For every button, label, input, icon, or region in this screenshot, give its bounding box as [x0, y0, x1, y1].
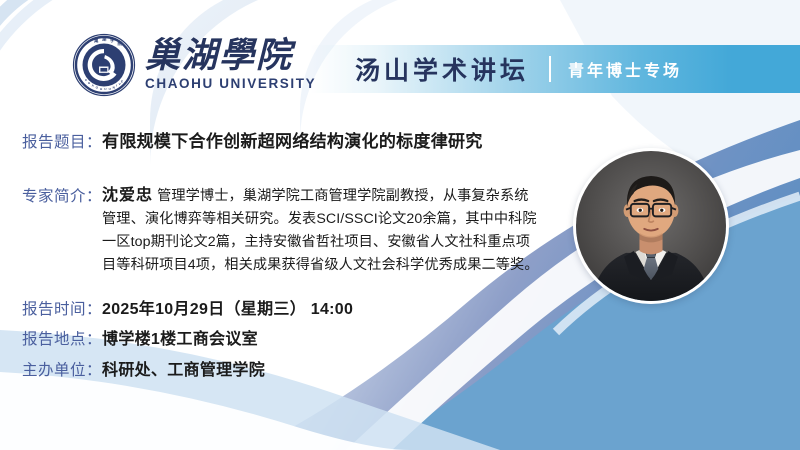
- forum-banner-subtitle: 青年博士专场: [568, 57, 682, 81]
- speaker-portrait: [573, 148, 729, 304]
- svg-text:湖: 湖: [102, 35, 107, 42]
- bio-line-text-1: 管理学博士，巢湖学院工商管理学院副教授，从事复杂系统: [153, 188, 529, 204]
- lecture-poster: 巢湖学院 CHA OHU UNI VE 巢湖學院 CHAOHU UNIVERSI…: [0, 0, 800, 450]
- bio-line: 沈爱忠 管理学博士，巢湖学院工商管理学院副教授，从事复杂系统: [102, 184, 557, 208]
- bio-line: 一区top期刊论文2篇，主持安徽省哲社项目、安徽省人文社科重点项: [102, 231, 557, 254]
- report-time-label: 报告时间：: [22, 297, 102, 319]
- speaker-bio-body: 沈爱忠 管理学博士，巢湖学院工商管理学院副教授，从事复杂系统 管理、演化博弈等相…: [102, 184, 557, 277]
- organizer-label: 主办单位：: [22, 358, 102, 380]
- chaohu-university-seal-icon: 巢湖学院 CHA OHU UNI VE: [72, 33, 136, 97]
- organizer-row: 主办单位： 科研处、工商管理学院: [22, 356, 265, 380]
- report-place-value: 博学楼1楼工商会议室: [102, 325, 258, 349]
- report-title-label: 报告题目：: [22, 130, 102, 152]
- svg-text:I: I: [116, 84, 117, 88]
- svg-text:院: 院: [118, 40, 123, 47]
- svg-text:学: 学: [110, 37, 115, 44]
- university-logo-block: 巢湖学院 CHA OHU UNI VE 巢湖學院 CHAOHU UNIVERSI…: [72, 33, 316, 97]
- speaker-bio-label: 专家简介：: [22, 184, 102, 206]
- banner-divider: [549, 56, 551, 82]
- report-place-row: 报告地点： 博学楼1楼工商会议室: [22, 325, 258, 349]
- report-time-row: 报告时间： 2025年10月29日（星期三） 14:00: [22, 295, 353, 319]
- bio-line: 管理、演化博弈等相关研究。发表SCI/SSCI论文20余篇，其中中科院: [102, 208, 557, 231]
- bio-line: 目等科研项目4项，相关成果获得省级人文社会科学优秀成果二等奖。: [102, 254, 557, 277]
- svg-text:E: E: [121, 79, 123, 83]
- university-name-cn: 巢湖學院: [145, 36, 316, 75]
- svg-text:巢: 巢: [93, 37, 99, 44]
- report-title-value: 有限规模下合作创新超网络结构演化的标度律研究: [102, 127, 483, 152]
- organizer-value: 科研处、工商管理学院: [102, 356, 265, 380]
- poster-header: 巢湖学院 CHA OHU UNI VE 巢湖學院 CHAOHU UNIVERSI…: [0, 0, 800, 110]
- speaker-bio-row: 专家简介： 沈爱忠 管理学博士，巢湖学院工商管理学院副教授，从事复杂系统 管理、…: [22, 184, 557, 277]
- report-title-row: 报告题目： 有限规模下合作创新超网络结构演化的标度律研究: [22, 127, 483, 152]
- speaker-name: 沈爱忠: [102, 187, 153, 204]
- university-name-en: CHAOHU UNIVERSITY: [145, 76, 316, 92]
- forum-banner: 汤山学术讲坛 青年博士专场: [310, 45, 800, 93]
- forum-banner-title: 汤山学术讲坛: [355, 51, 529, 87]
- report-time-value: 2025年10月29日（星期三） 14:00: [102, 295, 353, 319]
- report-place-label: 报告地点：: [22, 327, 102, 349]
- university-name-block: 巢湖學院 CHAOHU UNIVERSITY: [145, 36, 316, 92]
- speaker-portrait-image: [576, 151, 726, 301]
